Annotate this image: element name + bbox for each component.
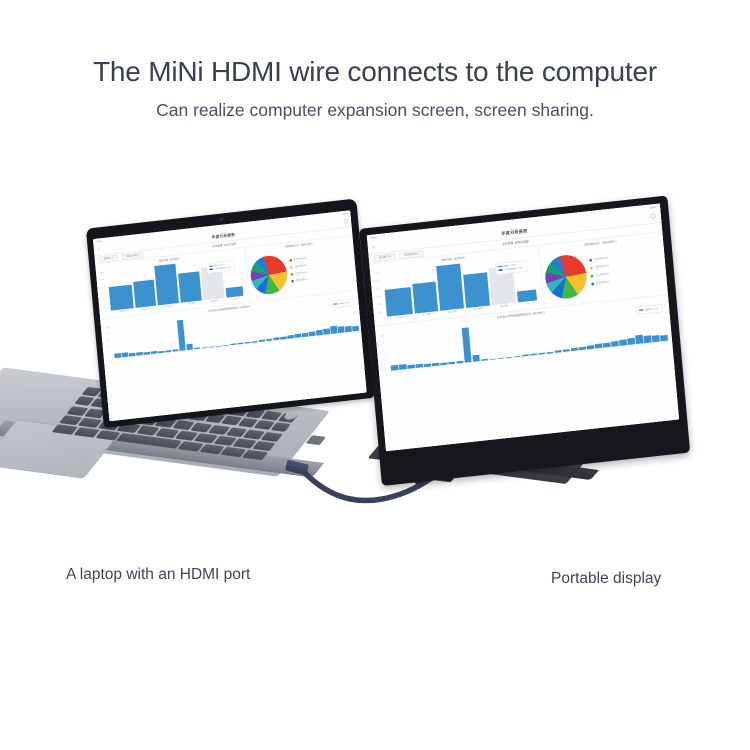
legend-text: 华东区销售占比38.2% [293, 257, 306, 263]
bar-label: 34 [664, 342, 666, 344]
bar [385, 287, 413, 316]
y-tick-label: 25 [383, 356, 391, 360]
bar-label: 20 [254, 343, 256, 344]
bar-label: 18 [533, 356, 535, 358]
legend-dot [290, 259, 293, 262]
bar-label: 17 [233, 345, 235, 346]
bar-label: 22 [269, 341, 271, 342]
bar-label: 10 [468, 363, 470, 365]
bar-label: 22 [566, 352, 568, 354]
bar [644, 335, 652, 343]
gear-icon[interactable] [651, 213, 656, 219]
bar [660, 335, 668, 342]
y-tick-label: 50 [107, 339, 114, 342]
y-tick-label: 40.0 [377, 295, 385, 299]
key[interactable] [178, 441, 204, 451]
pie-chart-area: 华东区销售占比38.2%华南区销售占比22.6%华北区销售占比16.4%西南区销… [543, 240, 664, 306]
pie-chart-legend: 华东区销售占比38.2%华南区销售占比22.6%华北区销售占比16.4%西南区销… [288, 252, 355, 287]
bar-column: 第二季度 [154, 262, 179, 309]
y-tick-label: 100 [381, 334, 389, 338]
y-tick-label: 100 [106, 326, 113, 329]
bar [463, 273, 490, 308]
bar-label: 23 [574, 351, 576, 353]
bar-label: 26 [598, 349, 600, 351]
legend-dot [589, 258, 592, 261]
legend-dot [591, 282, 594, 285]
bar-column: 第一季度 [411, 264, 439, 317]
bar-label: 28 [615, 347, 617, 349]
legend-swatch [498, 265, 502, 267]
bar-label: 第三季度 [188, 302, 195, 305]
dashboard-monitor[interactable]: iPad100%‹2020年年度分析报表选择部门 ▾选择业务组 ▾全年销售·业务… [367, 203, 680, 451]
bar-label: 合计 [526, 302, 530, 305]
bar [316, 330, 323, 335]
bar-label: 34 [355, 332, 357, 333]
bar [330, 326, 337, 334]
bar [635, 335, 643, 344]
pie-chart [544, 253, 589, 301]
bar-label: 21 [261, 342, 263, 343]
bar [352, 326, 359, 332]
legend-item-0: 日销售额（万元） [333, 301, 352, 306]
caption-laptop: A laptop with an HDMI port [66, 566, 250, 584]
bar-label: 31 [639, 344, 641, 346]
bar-label: 30 [631, 345, 633, 347]
y-tick-label: 50 [382, 348, 390, 352]
bar-label: 04 [139, 356, 141, 357]
bar-label: 19 [541, 355, 543, 357]
bar-label: 14 [500, 359, 502, 361]
y-tick-label: 20.0 [378, 302, 386, 306]
bar-label: 02 [402, 370, 404, 372]
bar-label: 13 [204, 349, 206, 350]
legend-dot [291, 280, 294, 283]
bar-label: 15 [508, 359, 510, 361]
y-tick-label: 80.0 [375, 279, 383, 283]
y-tick-label: 75 [382, 341, 390, 345]
bar-label: 12 [484, 361, 486, 363]
dashboard-laptop[interactable]: iPad100%‹2020年年度分析报表选择部门 ▾选择业务组 ▾全年销售·业务… [93, 210, 367, 421]
bar-label: 16 [225, 346, 227, 347]
bar-label: 14 [211, 348, 213, 349]
bar-label: 33 [348, 333, 350, 334]
bar-label: 07 [160, 354, 162, 355]
status-carrier: iPad [371, 236, 377, 240]
bar-label: 16 [516, 358, 518, 360]
bar [391, 365, 399, 371]
legend-label: 上年同期销售额（万元） [214, 266, 233, 271]
bar-label: 第二季度 [165, 304, 172, 307]
bar [652, 335, 660, 342]
bar-label: 15 [218, 347, 220, 348]
legend-dot [291, 273, 294, 276]
bar-label: 08 [451, 365, 453, 367]
bar-label: 10 [182, 351, 184, 352]
bar-label: 05 [427, 367, 429, 369]
legend-swatch [498, 269, 502, 271]
bar-label: 32 [647, 343, 649, 345]
legend-text: 华北区销售占比16.4% [595, 272, 610, 279]
bar-label: 11 [189, 350, 190, 351]
bar-label: 第四季度 [500, 304, 508, 308]
back-icon[interactable]: ‹ [98, 247, 100, 252]
bar-label: 13 [492, 360, 494, 362]
y-tick-label: 40.0 [102, 291, 109, 294]
bar [412, 281, 438, 313]
bar-label: 上半年合计 [118, 309, 127, 313]
y-tick-label: 100.0 [100, 271, 107, 274]
laptop-lid: iPad100%‹2020年年度分析报表选择部门 ▾选择业务组 ▾全年销售·业务… [86, 198, 374, 428]
page-title: The MiNi HDMI wire connects to the compu… [0, 56, 750, 88]
y-tick-label: 25 [107, 345, 114, 348]
bar-label: 03 [410, 369, 412, 371]
bar-label: 03 [132, 357, 134, 358]
y-tick-label: 20.0 [103, 298, 110, 301]
bar [619, 340, 627, 346]
status-carrier: iPad [97, 239, 102, 243]
bar-label: 28 [312, 337, 314, 338]
bar-label: 18 [240, 345, 242, 346]
bar-column: 第一季度 [132, 264, 157, 311]
legend-swatch [333, 303, 337, 305]
bar-column: 第三季度 [462, 259, 490, 312]
bar-label: 上半年合计 [395, 315, 405, 319]
pie-chart [249, 254, 289, 296]
bar [186, 344, 193, 350]
y-tick-label: 60.0 [101, 284, 108, 287]
bar-label: 第四季度 [211, 299, 218, 302]
bar-label: 32 [341, 333, 343, 334]
bar-column: 第二季度 [436, 261, 464, 314]
bar-label: 29 [319, 336, 321, 337]
legend-dot [590, 266, 593, 269]
bar-label: 06 [435, 367, 437, 369]
back-icon[interactable]: ‹ [372, 245, 374, 250]
bar [628, 338, 636, 345]
product-infographic: The MiNi HDMI wire connects to the compu… [0, 0, 750, 750]
bar-label: 01 [117, 358, 119, 359]
bar-label: 05 [146, 355, 148, 356]
legend-dot [290, 266, 293, 269]
bar-label: 09 [459, 364, 461, 366]
bar-label: 26 [297, 338, 299, 339]
bar-label: 第一季度 [423, 313, 431, 317]
legend-dot [591, 274, 594, 277]
bar [437, 264, 465, 311]
monitor-bezel: iPad100%‹2020年年度分析报表选择部门 ▾选择业务组 ▾全年销售·业务… [359, 195, 690, 486]
bar-label: 11 [476, 362, 478, 364]
bar-label: 08 [168, 353, 170, 354]
bar-label: 02 [124, 358, 126, 359]
legend-label: 日销售额（万元） [338, 301, 352, 305]
y-tick-label: 0.0 [103, 305, 110, 308]
bar [399, 364, 407, 370]
dashboard-subtitle: 全年销售·业务总览图 [212, 242, 236, 248]
bar-label: 27 [305, 337, 307, 338]
gear-icon[interactable] [344, 219, 349, 224]
bar-label: 30 [326, 335, 328, 336]
bar-column: 第三季度 [177, 259, 202, 306]
dashboard-subtitle: 全年销售·业务总览图 [502, 239, 529, 246]
y-tick-label: 60.0 [376, 287, 384, 291]
header-title: 年度分析报表 [212, 233, 236, 240]
bar-label: 25 [290, 339, 292, 340]
bar-label: 12 [196, 350, 198, 351]
y-tick-label: 100.0 [375, 271, 383, 275]
bar [611, 341, 619, 346]
monitor-screen: iPad100%‹2020年年度分析报表选择部门 ▾选择业务组 ▾全年销售·业务… [367, 203, 680, 451]
monitor-screen-surface: iPad100%‹2020年年度分析报表选择部门 ▾选择业务组 ▾全年销售·业务… [367, 203, 680, 451]
laptop-screen: iPad100%‹2020年年度分析报表选择部门 ▾选择业务组 ▾全年销售·业务… [93, 210, 367, 421]
bar-label: 第三季度 [474, 307, 482, 311]
caption-monitor: Portable display [551, 570, 661, 588]
laptop-screen-surface: iPad100%‹2020年年度分析报表选择部门 ▾选择业务组 ▾全年销售·业务… [93, 210, 367, 421]
bar-label: 19 [247, 344, 249, 345]
page-subtitle: Can realize computer expansion screen, s… [0, 100, 750, 121]
bar [133, 279, 156, 308]
bar-column: 上半年合计 [383, 267, 413, 320]
bar-label: 第一季度 [142, 307, 149, 310]
bar-label: 23 [276, 341, 278, 342]
legend-text: 华北区销售占比16.4% [295, 271, 308, 277]
bar-label: 第二季度 [448, 310, 456, 314]
bar-label: 20 [549, 354, 551, 356]
bar [225, 286, 243, 297]
bar [323, 329, 330, 335]
pie-chart-legend: 华东区销售占比38.2%华南区销售占比22.6%华北区销售占比16.4%西南区销… [588, 251, 664, 291]
bar [155, 264, 179, 305]
bar [472, 355, 480, 362]
legend-text: 华南区销售占比22.6% [594, 264, 609, 271]
bar [603, 343, 611, 348]
filter-dropdown-0[interactable]: 选择部门 ▾ [374, 253, 396, 262]
bar [338, 326, 345, 333]
bar-label: 17 [525, 357, 527, 359]
bar-label: 24 [283, 340, 285, 341]
legend-swatch [209, 268, 213, 270]
bar-label: 29 [623, 346, 625, 348]
bar-label: 合计 [233, 297, 237, 300]
legend-text: 西南区销售占比10.1% [596, 280, 611, 287]
bar [517, 290, 538, 303]
legend-text: 华南区销售占比22.6% [294, 264, 307, 270]
bar [178, 272, 202, 303]
bar-label: 04 [418, 368, 420, 370]
portable-display-device: iPad100%‹2020年年度分析报表选择部门 ▾选择业务组 ▾全年销售·业务… [370, 222, 750, 542]
bar [345, 326, 352, 332]
bar-label: 27 [606, 348, 608, 350]
status-battery: 100% [342, 212, 348, 216]
legend-item-0: 日销售额（万元） [639, 307, 660, 312]
bar-label: 25 [590, 350, 592, 352]
bar-label: 31 [334, 334, 336, 335]
bar-label: 21 [557, 353, 559, 355]
bar-label: 07 [443, 366, 445, 368]
bar-label: 09 [175, 352, 177, 353]
legend-swatch [639, 309, 643, 311]
y-tick-label: 80.0 [101, 278, 108, 281]
y-tick-label: 0.0 [378, 310, 386, 314]
bar [109, 285, 134, 311]
bar-label: 06 [153, 354, 155, 355]
bar-column: 上半年合计 [107, 267, 134, 314]
bar-label: 33 [655, 343, 657, 345]
legend-text: 西南区销售占比10.1% [295, 278, 308, 284]
legend-text: 华东区销售占比38.2% [594, 256, 609, 263]
y-tick-label: 75 [106, 332, 113, 335]
webcam-icon [219, 217, 223, 220]
status-battery: 100% [649, 205, 656, 209]
bar-label: 24 [582, 351, 584, 353]
bar-label: 01 [394, 371, 396, 373]
header-title: 年度分析报表 [501, 229, 528, 237]
legend-label: 日销售额（万元） [644, 307, 660, 312]
